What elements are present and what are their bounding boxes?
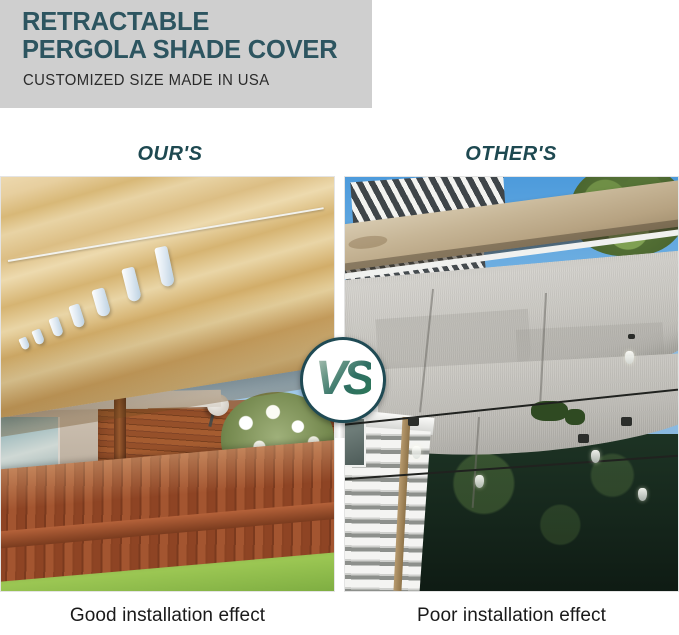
right-scene [345,177,678,591]
poor-installation-photo [344,176,679,592]
left-scene [1,177,334,591]
wire-clip [408,417,419,426]
header-subtitle: CUSTOMIZED SIZE MADE IN USA [23,72,270,90]
vs-label: VS [315,355,371,405]
good-installation-photo [0,176,335,592]
label-others: OTHER'S [411,143,611,166]
header-banner: RETRACTABLE PERGOLA SHADE COVER CUSTOMIZ… [0,0,372,108]
light-bulb [412,446,421,459]
wire-clip [578,434,589,443]
vs-badge: VS [300,337,386,423]
wire-clip [621,417,632,426]
light-bulb [625,351,634,364]
bulb-cap [628,334,635,339]
light-bulb [638,488,647,501]
caption-poor-installation: Poor installation effect [344,605,679,627]
page-title: RETRACTABLE PERGOLA SHADE COVER [22,8,367,64]
label-ours: OUR'S [70,143,270,166]
caption-good-installation: Good installation effect [0,605,335,627]
light-bulb [475,475,484,488]
mesh-gap [565,409,585,426]
